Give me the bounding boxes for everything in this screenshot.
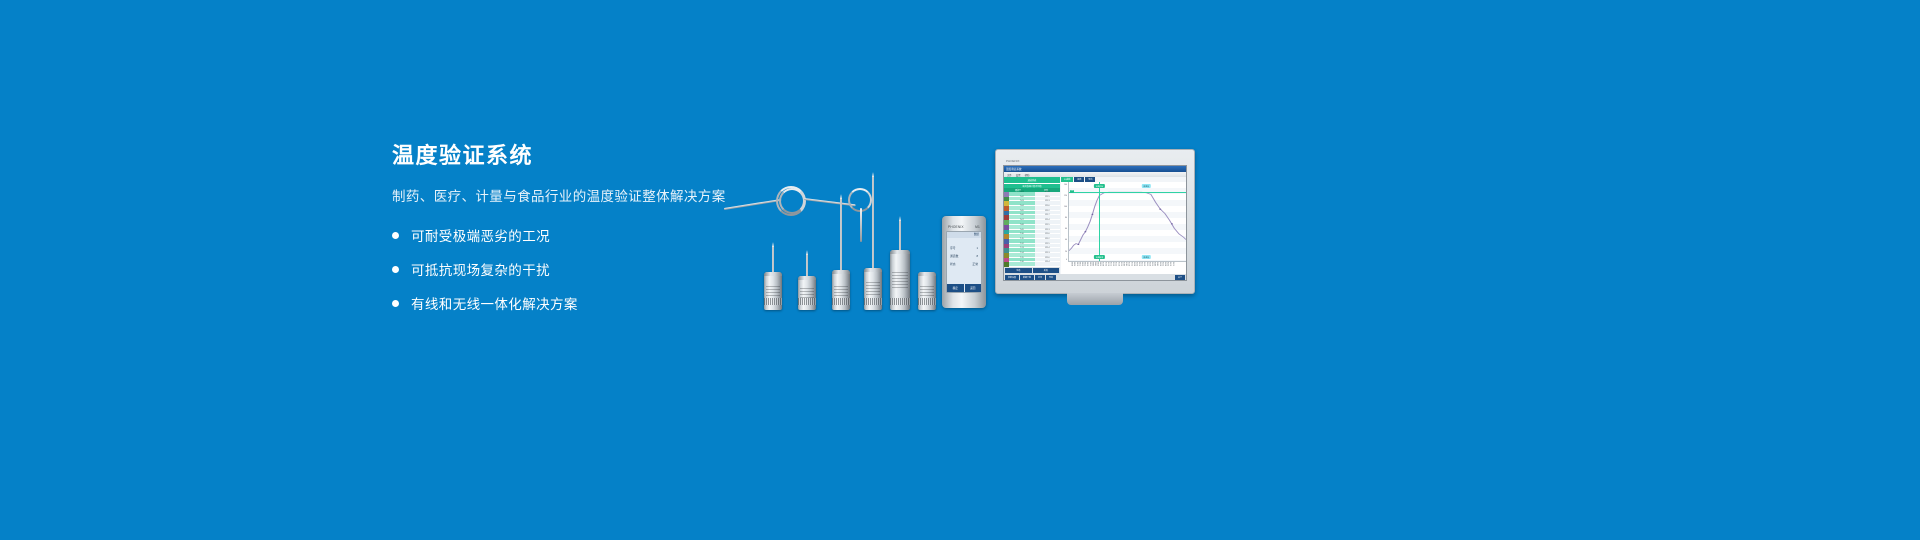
menu-item-file[interactable]: 文件 xyxy=(1007,173,1012,177)
row-label: 状态 xyxy=(950,262,956,266)
hero-banner: 温度验证系统 制药、医疗、计量与食品行业的温度验证整体解决方案 可耐受极端恶劣的… xyxy=(0,0,1920,540)
x-tick: 03:15 xyxy=(1170,262,1173,266)
menu-item-help[interactable]: 帮助 xyxy=(1025,173,1030,177)
y-tick: 40 xyxy=(1065,239,1067,241)
data-logger-1 xyxy=(764,272,782,310)
feature-label: 可抵抗现场复杂的干扰 xyxy=(411,259,550,279)
print-button[interactable]: 打印 xyxy=(1035,275,1045,280)
product-group: PHOENIX M1 数据 序号 1 通道数 8 状态 正常 xyxy=(710,120,1230,310)
cell-temp: 121.4 xyxy=(1035,262,1061,266)
software-window: 温度验证系统 文件 设置 帮助 通道列表 最大值/最小值/平均值 通道号 温度 xyxy=(1003,165,1187,281)
probe-needle-icon xyxy=(899,220,901,250)
table-body: T-01121.4 T-02121.5 T-03121.3 T-04121.6 … xyxy=(1004,192,1060,267)
handheld-screen: 数据 序号 1 通道数 8 状态 正常 确定 xyxy=(946,231,982,293)
chart-panel: F0曲线 报表 导出 140 120 100 80 60 40 xyxy=(1060,177,1186,274)
table-footer: 全选 反选 xyxy=(1004,267,1060,274)
window-title: 温度验证系统 xyxy=(1006,167,1022,171)
knurl-texture xyxy=(918,298,936,305)
table-title: 通道列表 xyxy=(1004,177,1060,184)
cell-temp: 121.2 xyxy=(1035,239,1061,243)
handheld-button-bar: 确定 返回 xyxy=(947,284,981,292)
param-settings-button[interactable]: 参数设置 xyxy=(1005,275,1019,280)
chart-canvas: A 灭菌开始 灭菌结束 保温段 降温段 xyxy=(1068,182,1186,262)
probe-needle-icon xyxy=(772,246,774,272)
bullet-dot-icon xyxy=(392,266,399,273)
cell-channel: T-16 xyxy=(1009,262,1035,266)
y-tick: 0 xyxy=(1066,259,1067,261)
feature-label: 可耐受极端恶劣的工况 xyxy=(411,225,550,245)
coiled-probe xyxy=(724,182,904,238)
export-button[interactable]: 导出 xyxy=(1046,275,1056,280)
probe-needle-icon xyxy=(806,254,808,276)
probe-needle-icon xyxy=(840,198,842,270)
cursor-line[interactable] xyxy=(1099,182,1100,261)
y-tick: 20 xyxy=(1065,251,1067,253)
window-footer: 参数设置 数据下载 打印 导出 关于 xyxy=(1004,274,1186,280)
data-download-button[interactable]: 数据下载 xyxy=(1020,275,1034,280)
handheld-back-button[interactable]: 返回 xyxy=(965,284,982,292)
row-label: 序号 xyxy=(950,246,956,250)
cell-channel: T-08 xyxy=(1009,225,1035,229)
knurl-texture xyxy=(764,298,782,305)
data-logger-6 xyxy=(918,272,936,310)
reference-line xyxy=(1069,192,1186,193)
plateau-tag: 保温段 xyxy=(1142,184,1150,188)
data-logger-2 xyxy=(798,276,816,310)
handheld-row: 序号 1 xyxy=(950,246,978,250)
handheld-row: 状态 正常 xyxy=(950,262,978,266)
monitor-display: PHOENIX 温度验证系统 文件 设置 帮助 通道列表 最大值/最小值/平均值 xyxy=(995,149,1195,294)
bullet-dot-icon xyxy=(392,300,399,307)
probe-shaft xyxy=(724,199,782,210)
top-marker-tag: 灭菌开始 xyxy=(1094,184,1104,188)
knurl-texture xyxy=(798,298,816,305)
handheld-brand: PHOENIX xyxy=(948,225,964,229)
cooldown-tag: 降温段 xyxy=(1142,255,1150,259)
data-logger-4 xyxy=(864,268,882,310)
y-axis: 140 120 100 80 60 40 20 0 xyxy=(1061,182,1068,262)
bottom-marker-tag: 灭菌结束 xyxy=(1094,255,1104,259)
knurl-texture xyxy=(832,298,850,305)
left-marker-tag: A xyxy=(1070,190,1074,193)
row-label: 通道数 xyxy=(950,254,958,258)
monitor-stand xyxy=(1067,293,1123,305)
handheld-confirm-button[interactable]: 确定 xyxy=(947,284,964,292)
data-logger-5 xyxy=(890,250,910,310)
about-button[interactable]: 关于 xyxy=(1175,275,1185,280)
menu-item-settings[interactable]: 设置 xyxy=(1016,173,1021,177)
y-tick: 140 xyxy=(1064,184,1067,186)
row-value: 正常 xyxy=(972,262,978,266)
data-logger-3 xyxy=(832,270,850,310)
probe-needle-icon xyxy=(872,176,874,268)
knurl-texture xyxy=(864,298,882,305)
window-body: 通道列表 最大值/最小值/平均值 通道号 温度 xyxy=(1004,177,1186,274)
series-line xyxy=(1069,192,1186,251)
handheld-rows: 序号 1 通道数 8 状态 正常 xyxy=(947,238,981,284)
handheld-row: 通道数 8 xyxy=(950,254,978,258)
knurl-texture xyxy=(890,298,910,305)
cell-channel: T-11 xyxy=(1009,239,1035,243)
x-axis: 00:0000:0500:1000:1500:2000:2500:3000:35… xyxy=(1061,262,1186,274)
row-value: 1 xyxy=(976,246,978,250)
chart-plot: 140 120 100 80 60 40 20 0 xyxy=(1061,182,1186,262)
footer-spacer xyxy=(1057,275,1174,280)
probe-shaft xyxy=(860,208,862,242)
select-all-button[interactable]: 全选 xyxy=(1005,268,1032,273)
row-value: 8 xyxy=(976,254,978,258)
temperature-curve xyxy=(1069,182,1186,261)
invert-select-button[interactable]: 反选 xyxy=(1033,268,1060,273)
y-tick: 100 xyxy=(1064,206,1067,208)
cell-temp: 121.5 xyxy=(1035,225,1061,229)
handheld-model: M1 xyxy=(975,225,980,229)
feature-label: 有线和无线一体化解决方案 xyxy=(411,293,578,313)
table-rows: T-01121.4 T-02121.5 T-03121.3 T-04121.6 … xyxy=(1009,192,1060,267)
y-tick: 80 xyxy=(1065,217,1067,219)
probe-coil-ring xyxy=(779,188,805,214)
series-points xyxy=(1077,208,1172,245)
channel-table: 通道列表 最大值/最小值/平均值 通道号 温度 xyxy=(1004,177,1060,274)
handheld-reader[interactable]: PHOENIX M1 数据 序号 1 通道数 8 状态 正常 xyxy=(942,216,986,308)
y-tick: 60 xyxy=(1065,228,1067,230)
y-tick: 120 xyxy=(1064,195,1067,197)
bullet-dot-icon xyxy=(392,232,399,239)
